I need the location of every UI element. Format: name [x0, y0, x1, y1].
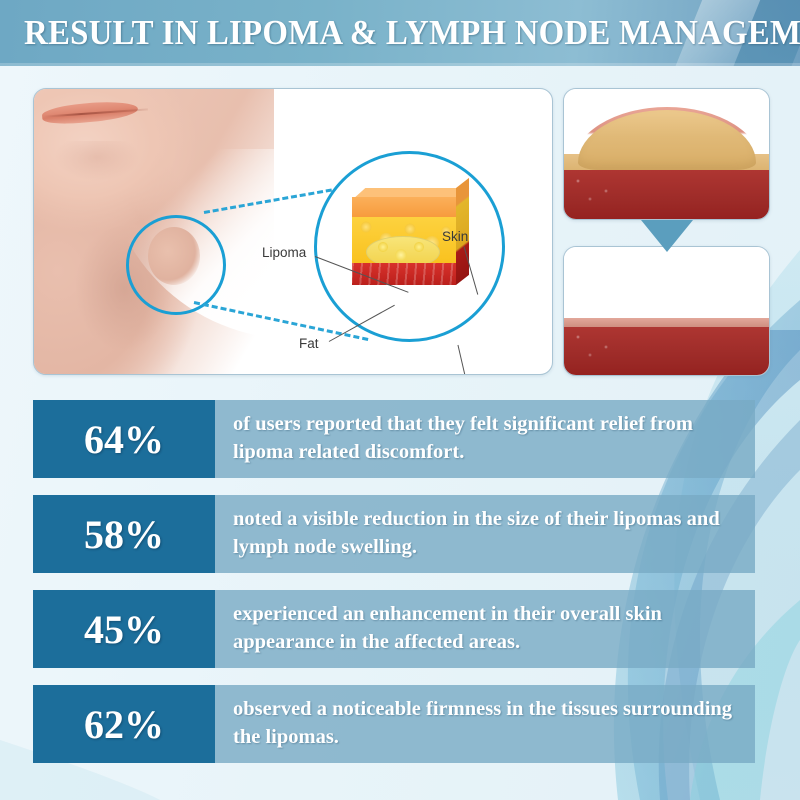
before-lipoma-bump: [578, 110, 756, 170]
stat-description: of users reported that they felt signifi…: [215, 400, 755, 478]
page-header: RESULT IN LIPOMA & LYMPH NODE MANAGEMENT: [0, 0, 800, 66]
stat-description: experienced an enhancement in their over…: [215, 590, 755, 668]
chin-shading: [54, 141, 140, 181]
label-lipoma: Lipoma: [262, 245, 306, 260]
fat-layer: [352, 217, 456, 263]
down-arrow-icon: [641, 220, 693, 252]
after-muscle-layer: [564, 323, 769, 375]
statistics-list: 64% of users reported that they felt sig…: [33, 400, 755, 780]
lipoma-diagram-card: Lipoma Skin Fat Muscle: [33, 88, 553, 375]
before-muscle-layer: [564, 167, 769, 219]
stat-row: 45% experienced an enhancement in their …: [33, 590, 755, 668]
stat-percent-badge: 64%: [33, 400, 215, 478]
after-skin-layer: [564, 318, 769, 327]
skin-layer: [352, 197, 456, 217]
stat-percent-badge: 58%: [33, 495, 215, 573]
muscle-leader-line: [457, 345, 471, 375]
infographic-page: RESULT IN LIPOMA & LYMPH NODE MANAGEMENT: [0, 0, 800, 800]
muscle-layer: [352, 263, 456, 285]
lipoma-highlight-circle: [126, 215, 226, 315]
tissue-before-card: [563, 88, 770, 220]
stat-row: 58% noted a visible reduction in the siz…: [33, 495, 755, 573]
tissue-after-card: [563, 246, 770, 376]
stat-row: 62% observed a noticeable firmness in th…: [33, 685, 755, 763]
stat-percent-badge: 62%: [33, 685, 215, 763]
header-divider: [0, 63, 800, 66]
tissue-before-panel: [564, 89, 769, 219]
stat-description: noted a visible reduction in the size of…: [215, 495, 755, 573]
label-skin: Skin: [442, 229, 468, 244]
page-title: RESULT IN LIPOMA & LYMPH NODE MANAGEMENT: [24, 13, 776, 53]
stat-row: 64% of users reported that they felt sig…: [33, 400, 755, 478]
tissue-after-panel: [564, 247, 769, 375]
stat-percent-badge: 45%: [33, 590, 215, 668]
label-fat: Fat: [299, 336, 319, 351]
illustration-cards: Lipoma Skin Fat Muscle: [33, 88, 768, 376]
stat-description: observed a noticeable firmness in the ti…: [215, 685, 755, 763]
